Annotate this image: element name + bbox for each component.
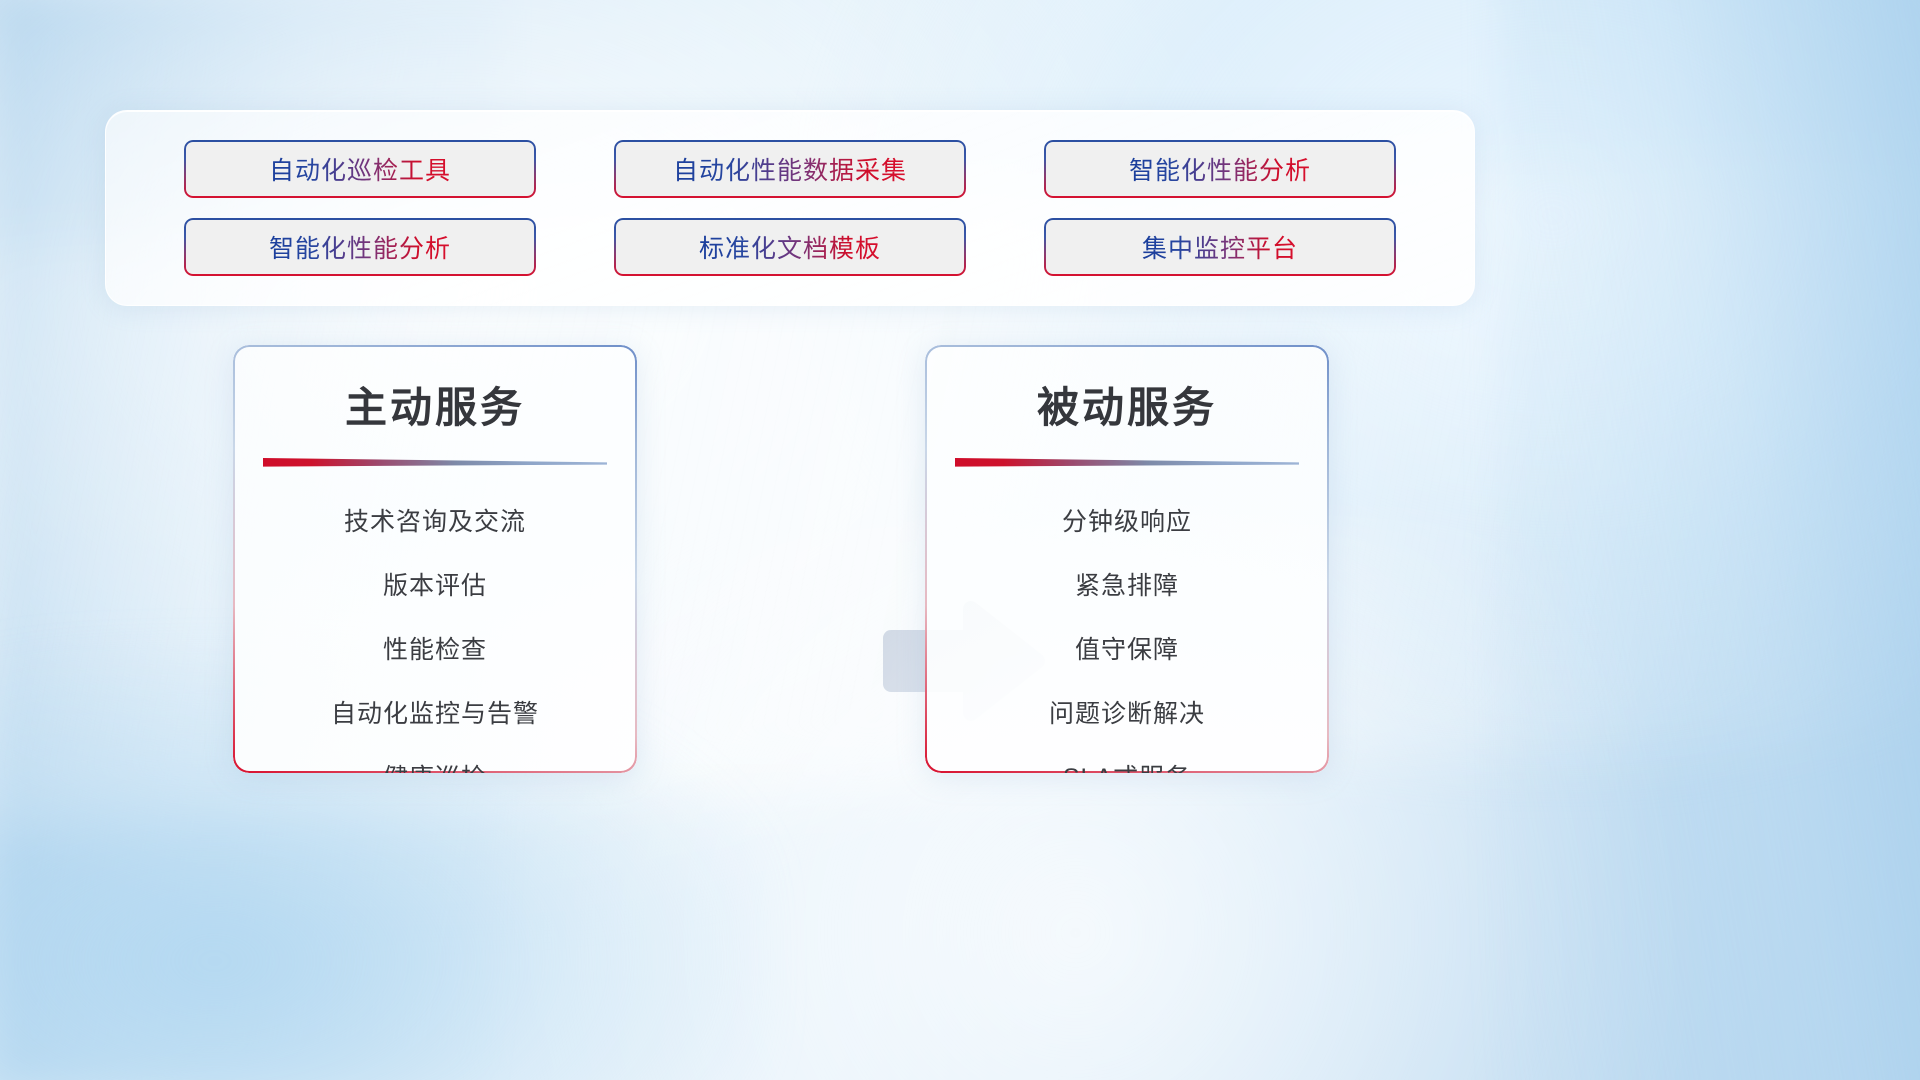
card-item-list: 分钟级响应 紧急排障 值守保障 问题诊断解决 SLA式服务 — [925, 469, 1329, 773]
card-title: 被动服务 — [925, 345, 1329, 435]
capability-pill-label: 自动化巡检工具 — [269, 151, 451, 187]
card-divider — [955, 457, 1299, 469]
card-list-item: 版本评估 — [233, 565, 637, 609]
card-title: 主动服务 — [233, 345, 637, 435]
capability-pill[interactable]: 自动化巡检工具 — [184, 140, 536, 198]
capability-pill[interactable]: 智能化性能分析 — [1044, 140, 1396, 198]
capability-pill[interactable]: 自动化性能数据采集 — [614, 140, 966, 198]
card-list-item: 分钟级响应 — [925, 501, 1329, 545]
card-item-list: 技术咨询及交流 版本评估 性能检查 自动化监控与告警 健康巡检 — [233, 469, 637, 773]
capability-pill[interactable]: 智能化性能分析 — [184, 218, 536, 276]
background-right-edge — [1498, 0, 1920, 1080]
card-list-item: SLA式服务 — [925, 757, 1329, 773]
slide-canvas: 自动化巡检工具 自动化性能数据采集 智能化性能分析 智能化性能分析 标准化文档模… — [0, 0, 1920, 1080]
card-list-item: 问题诊断解决 — [925, 693, 1329, 737]
card-list-item: 健康巡检 — [233, 757, 637, 773]
capability-pill-label: 集中监控平台 — [1142, 229, 1298, 265]
capability-pill-grid: 自动化巡检工具 自动化性能数据采集 智能化性能分析 智能化性能分析 标准化文档模… — [106, 111, 1474, 305]
card-list-item: 技术咨询及交流 — [233, 501, 637, 545]
capability-pill-label: 标准化文档模板 — [699, 229, 881, 265]
capability-pill-label: 智能化性能分析 — [269, 229, 451, 265]
card-list-item: 紧急排障 — [925, 565, 1329, 609]
capability-pill-label: 智能化性能分析 — [1129, 151, 1311, 187]
capability-pill-label: 自动化性能数据采集 — [673, 151, 907, 187]
card-list-item: 自动化监控与告警 — [233, 693, 637, 737]
card-list-item: 值守保障 — [925, 629, 1329, 673]
card-list-item: 性能检查 — [233, 629, 637, 673]
capability-pill[interactable]: 标准化文档模板 — [614, 218, 966, 276]
capability-panel: 自动化巡检工具 自动化性能数据采集 智能化性能分析 智能化性能分析 标准化文档模… — [105, 110, 1475, 306]
service-card-reactive: 被动服务 分钟级响应 紧急排障 值守保障 — [925, 345, 1329, 773]
service-card-proactive: 主动服务 技术咨询及交流 版本评估 性能检查 — [233, 345, 637, 773]
card-divider — [263, 457, 607, 469]
capability-pill[interactable]: 集中监控平台 — [1044, 218, 1396, 276]
